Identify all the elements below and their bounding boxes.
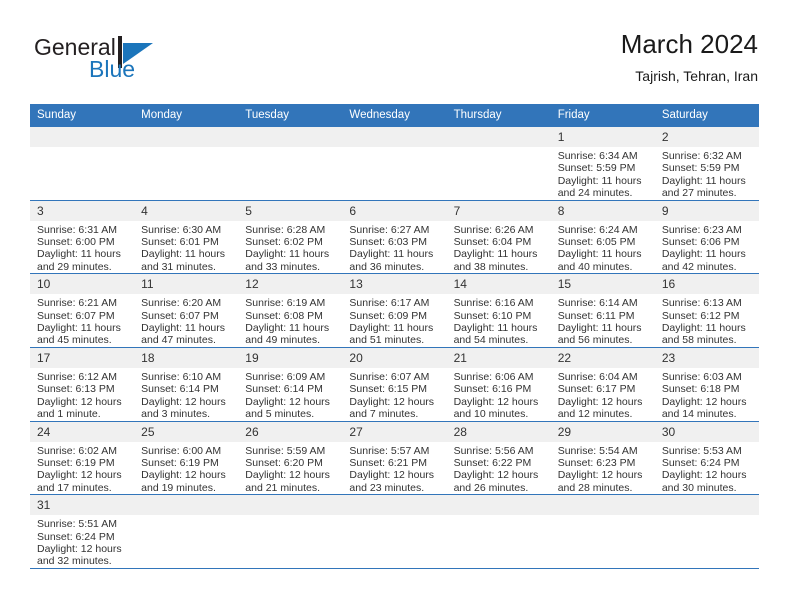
calendar-day-cell-empty bbox=[30, 127, 134, 201]
calendar-day-cell[interactable]: 1Sunrise: 6:34 AMSunset: 5:59 PMDaylight… bbox=[551, 127, 655, 201]
calendar-day-cell[interactable]: 15Sunrise: 6:14 AMSunset: 6:11 PMDayligh… bbox=[551, 274, 655, 348]
daylight-text: and 19 minutes. bbox=[141, 482, 232, 494]
day-details bbox=[134, 515, 238, 518]
day-details: Sunrise: 6:12 AMSunset: 6:13 PMDaylight:… bbox=[30, 368, 134, 421]
sunset-text: Sunset: 6:07 PM bbox=[37, 310, 128, 322]
calendar-day-cell[interactable]: 27Sunrise: 5:57 AMSunset: 6:21 PMDayligh… bbox=[342, 421, 446, 495]
daylight-text: Daylight: 12 hours bbox=[454, 396, 545, 408]
calendar-week-row: 31Sunrise: 5:51 AMSunset: 6:24 PMDayligh… bbox=[30, 495, 759, 568]
day-number: 21 bbox=[447, 348, 551, 368]
calendar-day-cell[interactable]: 25Sunrise: 6:00 AMSunset: 6:19 PMDayligh… bbox=[134, 421, 238, 495]
calendar-day-cell[interactable]: 18Sunrise: 6:10 AMSunset: 6:14 PMDayligh… bbox=[134, 347, 238, 421]
sunset-text: Sunset: 6:18 PM bbox=[662, 383, 753, 395]
day-details: Sunrise: 5:56 AMSunset: 6:22 PMDaylight:… bbox=[447, 442, 551, 495]
day-number: 22 bbox=[551, 348, 655, 368]
sunset-text: Sunset: 6:05 PM bbox=[558, 236, 649, 248]
day-number: 4 bbox=[134, 201, 238, 221]
day-details bbox=[238, 147, 342, 150]
day-details: Sunrise: 6:28 AMSunset: 6:02 PMDaylight:… bbox=[238, 221, 342, 274]
sunrise-text: Sunrise: 5:54 AM bbox=[558, 445, 649, 457]
day-details: Sunrise: 6:03 AMSunset: 6:18 PMDaylight:… bbox=[655, 368, 759, 421]
daylight-text: and 17 minutes. bbox=[37, 482, 128, 494]
daylight-text: Daylight: 11 hours bbox=[558, 322, 649, 334]
weekday-header-wednesday: Wednesday bbox=[342, 104, 446, 127]
day-details: Sunrise: 6:34 AMSunset: 5:59 PMDaylight:… bbox=[551, 147, 655, 200]
calendar-bottom-border bbox=[30, 568, 759, 569]
day-number: 14 bbox=[447, 274, 551, 294]
day-details: Sunrise: 5:51 AMSunset: 6:24 PMDaylight:… bbox=[30, 515, 134, 568]
day-details: Sunrise: 6:14 AMSunset: 6:11 PMDaylight:… bbox=[551, 294, 655, 347]
day-number: 6 bbox=[342, 201, 446, 221]
sunrise-text: Sunrise: 5:56 AM bbox=[454, 445, 545, 457]
sunset-text: Sunset: 6:21 PM bbox=[349, 457, 440, 469]
daylight-text: Daylight: 12 hours bbox=[558, 396, 649, 408]
calendar-day-cell[interactable]: 29Sunrise: 5:54 AMSunset: 6:23 PMDayligh… bbox=[551, 421, 655, 495]
day-number: 8 bbox=[551, 201, 655, 221]
day-details bbox=[134, 147, 238, 150]
day-number bbox=[447, 495, 551, 515]
day-details: Sunrise: 6:27 AMSunset: 6:03 PMDaylight:… bbox=[342, 221, 446, 274]
sunrise-text: Sunrise: 6:02 AM bbox=[37, 445, 128, 457]
daylight-text: Daylight: 11 hours bbox=[141, 248, 232, 260]
day-number: 28 bbox=[447, 422, 551, 442]
sunrise-text: Sunrise: 5:59 AM bbox=[245, 445, 336, 457]
sunset-text: Sunset: 6:22 PM bbox=[454, 457, 545, 469]
day-details: Sunrise: 6:31 AMSunset: 6:00 PMDaylight:… bbox=[30, 221, 134, 274]
sunset-text: Sunset: 6:24 PM bbox=[37, 531, 128, 543]
sunrise-text: Sunrise: 5:53 AM bbox=[662, 445, 753, 457]
calendar-day-cell[interactable]: 9Sunrise: 6:23 AMSunset: 6:06 PMDaylight… bbox=[655, 200, 759, 274]
daylight-text: Daylight: 11 hours bbox=[662, 322, 753, 334]
sunrise-text: Sunrise: 6:26 AM bbox=[454, 224, 545, 236]
day-number: 12 bbox=[238, 274, 342, 294]
daylight-text: and 27 minutes. bbox=[662, 187, 753, 199]
sunrise-text: Sunrise: 6:19 AM bbox=[245, 297, 336, 309]
daylight-text: Daylight: 12 hours bbox=[662, 396, 753, 408]
daylight-text: Daylight: 12 hours bbox=[349, 396, 440, 408]
daylight-text: and 49 minutes. bbox=[245, 334, 336, 346]
daylight-text: Daylight: 12 hours bbox=[245, 396, 336, 408]
daylight-text: and 36 minutes. bbox=[349, 261, 440, 273]
calendar-day-cell[interactable]: 17Sunrise: 6:12 AMSunset: 6:13 PMDayligh… bbox=[30, 347, 134, 421]
daylight-text: and 1 minute. bbox=[37, 408, 128, 420]
calendar-day-cell[interactable]: 11Sunrise: 6:20 AMSunset: 6:07 PMDayligh… bbox=[134, 274, 238, 348]
calendar-day-cell-empty bbox=[134, 495, 238, 568]
daylight-text: Daylight: 11 hours bbox=[37, 322, 128, 334]
calendar-day-cell-empty bbox=[551, 495, 655, 568]
location-subtitle: Tajrish, Tehran, Iran bbox=[621, 68, 758, 84]
calendar-day-cell-empty bbox=[134, 127, 238, 201]
day-details: Sunrise: 6:00 AMSunset: 6:19 PMDaylight:… bbox=[134, 442, 238, 495]
sunset-text: Sunset: 6:08 PM bbox=[245, 310, 336, 322]
sunrise-text: Sunrise: 6:32 AM bbox=[662, 150, 753, 162]
day-number: 20 bbox=[342, 348, 446, 368]
daylight-text: and 42 minutes. bbox=[662, 261, 753, 273]
sunset-text: Sunset: 6:06 PM bbox=[662, 236, 753, 248]
sunset-text: Sunset: 5:59 PM bbox=[558, 162, 649, 174]
sunrise-text: Sunrise: 6:04 AM bbox=[558, 371, 649, 383]
sunrise-text: Sunrise: 6:28 AM bbox=[245, 224, 336, 236]
sunrise-text: Sunrise: 6:30 AM bbox=[141, 224, 232, 236]
day-number: 5 bbox=[238, 201, 342, 221]
day-details: Sunrise: 6:16 AMSunset: 6:10 PMDaylight:… bbox=[447, 294, 551, 347]
day-details: Sunrise: 6:26 AMSunset: 6:04 PMDaylight:… bbox=[447, 221, 551, 274]
daylight-text: and 28 minutes. bbox=[558, 482, 649, 494]
daylight-text: Daylight: 11 hours bbox=[245, 248, 336, 260]
sunrise-text: Sunrise: 6:07 AM bbox=[349, 371, 440, 383]
day-number: 23 bbox=[655, 348, 759, 368]
calendar-day-cell[interactable]: 28Sunrise: 5:56 AMSunset: 6:22 PMDayligh… bbox=[447, 421, 551, 495]
daylight-text: and 29 minutes. bbox=[37, 261, 128, 273]
day-number: 19 bbox=[238, 348, 342, 368]
daylight-text: Daylight: 11 hours bbox=[454, 248, 545, 260]
day-details bbox=[342, 515, 446, 518]
daylight-text: Daylight: 12 hours bbox=[454, 469, 545, 481]
day-details: Sunrise: 6:19 AMSunset: 6:08 PMDaylight:… bbox=[238, 294, 342, 347]
sunrise-text: Sunrise: 6:09 AM bbox=[245, 371, 336, 383]
weekday-header-friday: Friday bbox=[551, 104, 655, 127]
day-number: 18 bbox=[134, 348, 238, 368]
day-details bbox=[30, 147, 134, 150]
daylight-text: Daylight: 11 hours bbox=[141, 322, 232, 334]
day-number: 13 bbox=[342, 274, 446, 294]
daylight-text: Daylight: 11 hours bbox=[662, 248, 753, 260]
day-details: Sunrise: 5:54 AMSunset: 6:23 PMDaylight:… bbox=[551, 442, 655, 495]
day-number: 2 bbox=[655, 127, 759, 147]
sunset-text: Sunset: 6:14 PM bbox=[245, 383, 336, 395]
daylight-text: Daylight: 12 hours bbox=[349, 469, 440, 481]
day-number bbox=[447, 127, 551, 147]
day-details: Sunrise: 5:53 AMSunset: 6:24 PMDaylight:… bbox=[655, 442, 759, 495]
daylight-text: and 56 minutes. bbox=[558, 334, 649, 346]
day-number bbox=[342, 495, 446, 515]
sunset-text: Sunset: 6:17 PM bbox=[558, 383, 649, 395]
day-details: Sunrise: 5:59 AMSunset: 6:20 PMDaylight:… bbox=[238, 442, 342, 495]
sunset-text: Sunset: 5:59 PM bbox=[662, 162, 753, 174]
daylight-text: and 5 minutes. bbox=[245, 408, 336, 420]
daylight-text: Daylight: 12 hours bbox=[37, 469, 128, 481]
day-number: 31 bbox=[30, 495, 134, 515]
sunrise-text: Sunrise: 6:10 AM bbox=[141, 371, 232, 383]
daylight-text: Daylight: 11 hours bbox=[349, 322, 440, 334]
day-number: 15 bbox=[551, 274, 655, 294]
day-details: Sunrise: 6:30 AMSunset: 6:01 PMDaylight:… bbox=[134, 221, 238, 274]
sunset-text: Sunset: 6:14 PM bbox=[141, 383, 232, 395]
day-details: Sunrise: 6:17 AMSunset: 6:09 PMDaylight:… bbox=[342, 294, 446, 347]
day-details bbox=[447, 147, 551, 150]
sunrise-text: Sunrise: 6:34 AM bbox=[558, 150, 649, 162]
daylight-text: and 30 minutes. bbox=[662, 482, 753, 494]
calendar-week-row: 17Sunrise: 6:12 AMSunset: 6:13 PMDayligh… bbox=[30, 347, 759, 421]
day-details: Sunrise: 6:32 AMSunset: 5:59 PMDaylight:… bbox=[655, 147, 759, 200]
daylight-text: Daylight: 11 hours bbox=[349, 248, 440, 260]
sunrise-text: Sunrise: 6:14 AM bbox=[558, 297, 649, 309]
daylight-text: and 32 minutes. bbox=[37, 555, 128, 567]
day-number: 11 bbox=[134, 274, 238, 294]
daylight-text: Daylight: 11 hours bbox=[558, 175, 649, 187]
day-number bbox=[238, 495, 342, 515]
sunrise-text: Sunrise: 6:21 AM bbox=[37, 297, 128, 309]
sunset-text: Sunset: 6:23 PM bbox=[558, 457, 649, 469]
daylight-text: and 3 minutes. bbox=[141, 408, 232, 420]
calendar-day-cell[interactable]: 6Sunrise: 6:27 AMSunset: 6:03 PMDaylight… bbox=[342, 200, 446, 274]
sunrise-sunset-calendar: Sunday Monday Tuesday Wednesday Thursday… bbox=[30, 104, 759, 568]
daylight-text: Daylight: 12 hours bbox=[662, 469, 753, 481]
daylight-text: and 21 minutes. bbox=[245, 482, 336, 494]
day-number bbox=[30, 127, 134, 147]
daylight-text: Daylight: 11 hours bbox=[245, 322, 336, 334]
sunrise-text: Sunrise: 6:12 AM bbox=[37, 371, 128, 383]
sunrise-text: Sunrise: 6:16 AM bbox=[454, 297, 545, 309]
day-number: 3 bbox=[30, 201, 134, 221]
sunset-text: Sunset: 6:13 PM bbox=[37, 383, 128, 395]
daylight-text: and 54 minutes. bbox=[454, 334, 545, 346]
day-details bbox=[238, 515, 342, 518]
calendar-week-row: 1Sunrise: 6:34 AMSunset: 5:59 PMDaylight… bbox=[30, 127, 759, 201]
daylight-text: and 40 minutes. bbox=[558, 261, 649, 273]
day-details: Sunrise: 5:57 AMSunset: 6:21 PMDaylight:… bbox=[342, 442, 446, 495]
calendar-day-cell[interactable]: 14Sunrise: 6:16 AMSunset: 6:10 PMDayligh… bbox=[447, 274, 551, 348]
day-details bbox=[342, 147, 446, 150]
day-number bbox=[551, 495, 655, 515]
daylight-text: Daylight: 12 hours bbox=[37, 396, 128, 408]
day-details: Sunrise: 6:10 AMSunset: 6:14 PMDaylight:… bbox=[134, 368, 238, 421]
daylight-text: and 58 minutes. bbox=[662, 334, 753, 346]
daylight-text: and 23 minutes. bbox=[349, 482, 440, 494]
day-number bbox=[238, 127, 342, 147]
calendar-day-cell-empty bbox=[655, 495, 759, 568]
day-details: Sunrise: 6:24 AMSunset: 6:05 PMDaylight:… bbox=[551, 221, 655, 274]
calendar-day-cell[interactable]: 12Sunrise: 6:19 AMSunset: 6:08 PMDayligh… bbox=[238, 274, 342, 348]
day-details: Sunrise: 6:13 AMSunset: 6:12 PMDaylight:… bbox=[655, 294, 759, 347]
day-number: 29 bbox=[551, 422, 655, 442]
day-number: 27 bbox=[342, 422, 446, 442]
sunset-text: Sunset: 6:10 PM bbox=[454, 310, 545, 322]
day-number: 16 bbox=[655, 274, 759, 294]
daylight-text: Daylight: 11 hours bbox=[662, 175, 753, 187]
calendar-page: General Blue March 2024 Tajrish, Tehran,… bbox=[0, 0, 792, 612]
brand-logo[interactable]: General Blue bbox=[34, 34, 254, 96]
day-details bbox=[447, 515, 551, 518]
sunrise-text: Sunrise: 5:51 AM bbox=[37, 518, 128, 530]
daylight-text: and 31 minutes. bbox=[141, 261, 232, 273]
daylight-text: and 33 minutes. bbox=[245, 261, 336, 273]
day-details: Sunrise: 6:23 AMSunset: 6:06 PMDaylight:… bbox=[655, 221, 759, 274]
calendar-week-row: 3Sunrise: 6:31 AMSunset: 6:00 PMDaylight… bbox=[30, 200, 759, 274]
day-details: Sunrise: 6:02 AMSunset: 6:19 PMDaylight:… bbox=[30, 442, 134, 495]
sunset-text: Sunset: 6:07 PM bbox=[141, 310, 232, 322]
daylight-text: Daylight: 12 hours bbox=[141, 396, 232, 408]
sunrise-text: Sunrise: 6:17 AM bbox=[349, 297, 440, 309]
day-number bbox=[342, 127, 446, 147]
sunset-text: Sunset: 6:11 PM bbox=[558, 310, 649, 322]
sunset-text: Sunset: 6:12 PM bbox=[662, 310, 753, 322]
page-title: March 2024 bbox=[621, 30, 758, 59]
calendar-header-row: Sunday Monday Tuesday Wednesday Thursday… bbox=[30, 104, 759, 127]
sunrise-text: Sunrise: 6:00 AM bbox=[141, 445, 232, 457]
day-number: 10 bbox=[30, 274, 134, 294]
sunset-text: Sunset: 6:09 PM bbox=[349, 310, 440, 322]
weekday-header-tuesday: Tuesday bbox=[238, 104, 342, 127]
calendar-day-cell[interactable]: 13Sunrise: 6:17 AMSunset: 6:09 PMDayligh… bbox=[342, 274, 446, 348]
calendar-day-cell-empty bbox=[342, 127, 446, 201]
day-details: Sunrise: 6:20 AMSunset: 6:07 PMDaylight:… bbox=[134, 294, 238, 347]
sunset-text: Sunset: 6:19 PM bbox=[141, 457, 232, 469]
sunset-text: Sunset: 6:15 PM bbox=[349, 383, 440, 395]
day-number: 17 bbox=[30, 348, 134, 368]
daylight-text: and 38 minutes. bbox=[454, 261, 545, 273]
calendar-day-cell[interactable]: 21Sunrise: 6:06 AMSunset: 6:16 PMDayligh… bbox=[447, 347, 551, 421]
sunrise-text: Sunrise: 6:24 AM bbox=[558, 224, 649, 236]
calendar-day-cell[interactable]: 31Sunrise: 5:51 AMSunset: 6:24 PMDayligh… bbox=[30, 495, 134, 568]
sunrise-text: Sunrise: 6:23 AM bbox=[662, 224, 753, 236]
sunset-text: Sunset: 6:04 PM bbox=[454, 236, 545, 248]
weekday-header-sunday: Sunday bbox=[30, 104, 134, 127]
calendar-week-row: 24Sunrise: 6:02 AMSunset: 6:19 PMDayligh… bbox=[30, 421, 759, 495]
daylight-text: and 26 minutes. bbox=[454, 482, 545, 494]
daylight-text: and 7 minutes. bbox=[349, 408, 440, 420]
day-number: 30 bbox=[655, 422, 759, 442]
day-number: 9 bbox=[655, 201, 759, 221]
calendar-day-cell[interactable]: 23Sunrise: 6:03 AMSunset: 6:18 PMDayligh… bbox=[655, 347, 759, 421]
brand-name-blue: Blue bbox=[89, 56, 135, 83]
day-details: Sunrise: 6:07 AMSunset: 6:15 PMDaylight:… bbox=[342, 368, 446, 421]
day-details bbox=[551, 515, 655, 518]
sunset-text: Sunset: 6:20 PM bbox=[245, 457, 336, 469]
sunrise-text: Sunrise: 5:57 AM bbox=[349, 445, 440, 457]
day-number: 26 bbox=[238, 422, 342, 442]
sunset-text: Sunset: 6:24 PM bbox=[662, 457, 753, 469]
day-details: Sunrise: 6:09 AMSunset: 6:14 PMDaylight:… bbox=[238, 368, 342, 421]
sunrise-text: Sunrise: 6:03 AM bbox=[662, 371, 753, 383]
calendar-day-cell[interactable]: 8Sunrise: 6:24 AMSunset: 6:05 PMDaylight… bbox=[551, 200, 655, 274]
calendar-day-cell-empty bbox=[238, 127, 342, 201]
daylight-text: and 14 minutes. bbox=[662, 408, 753, 420]
page-header: General Blue March 2024 Tajrish, Tehran,… bbox=[34, 30, 758, 98]
sunset-text: Sunset: 6:16 PM bbox=[454, 383, 545, 395]
calendar-body: 1Sunrise: 6:34 AMSunset: 5:59 PMDaylight… bbox=[30, 127, 759, 568]
day-number bbox=[655, 495, 759, 515]
calendar-day-cell[interactable]: 24Sunrise: 6:02 AMSunset: 6:19 PMDayligh… bbox=[30, 421, 134, 495]
title-block: March 2024 Tajrish, Tehran, Iran bbox=[621, 30, 758, 84]
day-details: Sunrise: 6:06 AMSunset: 6:16 PMDaylight:… bbox=[447, 368, 551, 421]
calendar-day-cell-empty bbox=[447, 127, 551, 201]
day-number bbox=[134, 127, 238, 147]
calendar-day-cell[interactable]: 30Sunrise: 5:53 AMSunset: 6:24 PMDayligh… bbox=[655, 421, 759, 495]
sunset-text: Sunset: 6:00 PM bbox=[37, 236, 128, 248]
daylight-text: and 51 minutes. bbox=[349, 334, 440, 346]
sunrise-text: Sunrise: 6:27 AM bbox=[349, 224, 440, 236]
sunrise-text: Sunrise: 6:20 AM bbox=[141, 297, 232, 309]
calendar-day-cell[interactable]: 16Sunrise: 6:13 AMSunset: 6:12 PMDayligh… bbox=[655, 274, 759, 348]
daylight-text: and 47 minutes. bbox=[141, 334, 232, 346]
sunrise-text: Sunrise: 6:13 AM bbox=[662, 297, 753, 309]
sunrise-text: Sunrise: 6:31 AM bbox=[37, 224, 128, 236]
daylight-text: Daylight: 12 hours bbox=[558, 469, 649, 481]
calendar-day-cell[interactable]: 19Sunrise: 6:09 AMSunset: 6:14 PMDayligh… bbox=[238, 347, 342, 421]
calendar-week-row: 10Sunrise: 6:21 AMSunset: 6:07 PMDayligh… bbox=[30, 274, 759, 348]
calendar-day-cell[interactable]: 5Sunrise: 6:28 AMSunset: 6:02 PMDaylight… bbox=[238, 200, 342, 274]
day-number bbox=[134, 495, 238, 515]
calendar-day-cell[interactable]: 4Sunrise: 6:30 AMSunset: 6:01 PMDaylight… bbox=[134, 200, 238, 274]
daylight-text: and 45 minutes. bbox=[37, 334, 128, 346]
sunset-text: Sunset: 6:03 PM bbox=[349, 236, 440, 248]
calendar-day-cell[interactable]: 2Sunrise: 6:32 AMSunset: 5:59 PMDaylight… bbox=[655, 127, 759, 201]
day-number: 7 bbox=[447, 201, 551, 221]
day-number: 24 bbox=[30, 422, 134, 442]
sunset-text: Sunset: 6:01 PM bbox=[141, 236, 232, 248]
calendar-day-cell[interactable]: 22Sunrise: 6:04 AMSunset: 6:17 PMDayligh… bbox=[551, 347, 655, 421]
sunrise-text: Sunrise: 6:06 AM bbox=[454, 371, 545, 383]
weekday-header-thursday: Thursday bbox=[447, 104, 551, 127]
calendar-day-cell[interactable]: 3Sunrise: 6:31 AMSunset: 6:00 PMDaylight… bbox=[30, 200, 134, 274]
day-number: 25 bbox=[134, 422, 238, 442]
daylight-text: and 24 minutes. bbox=[558, 187, 649, 199]
day-details bbox=[655, 515, 759, 518]
weekday-header-saturday: Saturday bbox=[655, 104, 759, 127]
calendar-day-cell[interactable]: 20Sunrise: 6:07 AMSunset: 6:15 PMDayligh… bbox=[342, 347, 446, 421]
calendar-day-cell[interactable]: 10Sunrise: 6:21 AMSunset: 6:07 PMDayligh… bbox=[30, 274, 134, 348]
calendar-day-cell[interactable]: 7Sunrise: 6:26 AMSunset: 6:04 PMDaylight… bbox=[447, 200, 551, 274]
calendar-day-cell-empty bbox=[447, 495, 551, 568]
sunset-text: Sunset: 6:02 PM bbox=[245, 236, 336, 248]
daylight-text: and 12 minutes. bbox=[558, 408, 649, 420]
day-number: 1 bbox=[551, 127, 655, 147]
calendar-day-cell[interactable]: 26Sunrise: 5:59 AMSunset: 6:20 PMDayligh… bbox=[238, 421, 342, 495]
daylight-text: Daylight: 12 hours bbox=[245, 469, 336, 481]
daylight-text: Daylight: 11 hours bbox=[37, 248, 128, 260]
calendar-day-cell-empty bbox=[238, 495, 342, 568]
daylight-text: and 10 minutes. bbox=[454, 408, 545, 420]
day-details: Sunrise: 6:04 AMSunset: 6:17 PMDaylight:… bbox=[551, 368, 655, 421]
sunset-text: Sunset: 6:19 PM bbox=[37, 457, 128, 469]
daylight-text: Daylight: 12 hours bbox=[141, 469, 232, 481]
daylight-text: Daylight: 12 hours bbox=[37, 543, 128, 555]
daylight-text: Daylight: 11 hours bbox=[454, 322, 545, 334]
day-details: Sunrise: 6:21 AMSunset: 6:07 PMDaylight:… bbox=[30, 294, 134, 347]
calendar-day-cell-empty bbox=[342, 495, 446, 568]
weekday-header-monday: Monday bbox=[134, 104, 238, 127]
daylight-text: Daylight: 11 hours bbox=[558, 248, 649, 260]
